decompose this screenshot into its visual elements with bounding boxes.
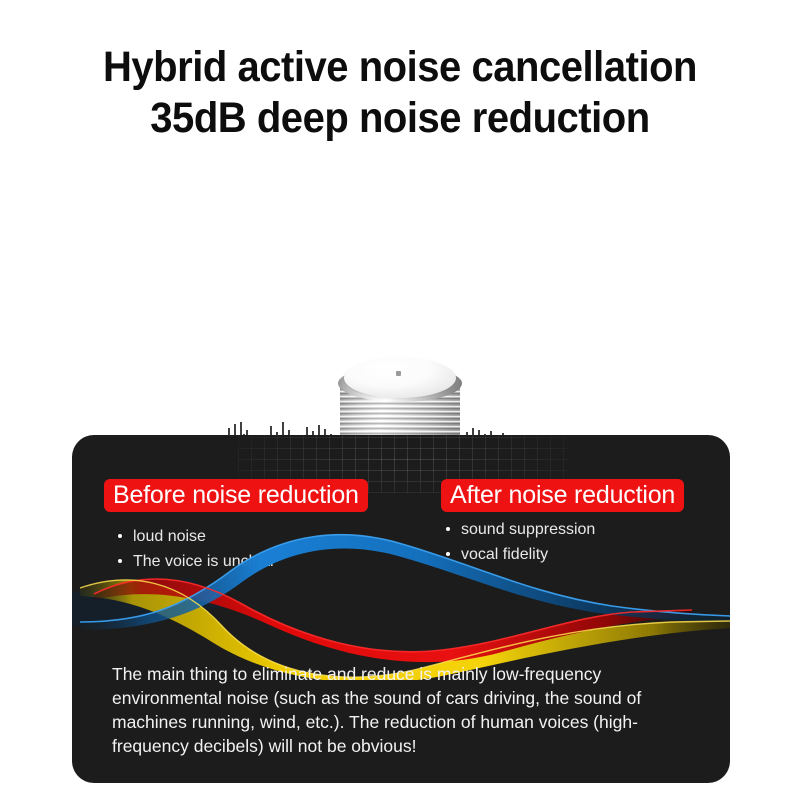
poster-root: Hybrid active noise cancellation 35dB de…	[0, 0, 800, 800]
comparison-panel: Before noise reduction After noise reduc…	[72, 435, 730, 783]
product-showcase	[0, 170, 800, 415]
white-touch-cap	[344, 358, 456, 398]
headline-line-1: Hybrid active noise cancellation	[103, 43, 697, 91]
panel-note-text: The main thing to eliminate and reduce i…	[112, 662, 712, 758]
page-title: Hybrid active noise cancellation 35dB de…	[28, 42, 772, 144]
badge-before-noise-reduction: Before noise reduction	[104, 479, 368, 512]
frequency-wave-graphic	[72, 530, 730, 680]
badge-after-noise-reduction: After noise reduction	[441, 479, 684, 512]
cap-mark-icon	[396, 371, 401, 376]
headline-line-2: 35dB deep noise reduction	[28, 93, 772, 144]
